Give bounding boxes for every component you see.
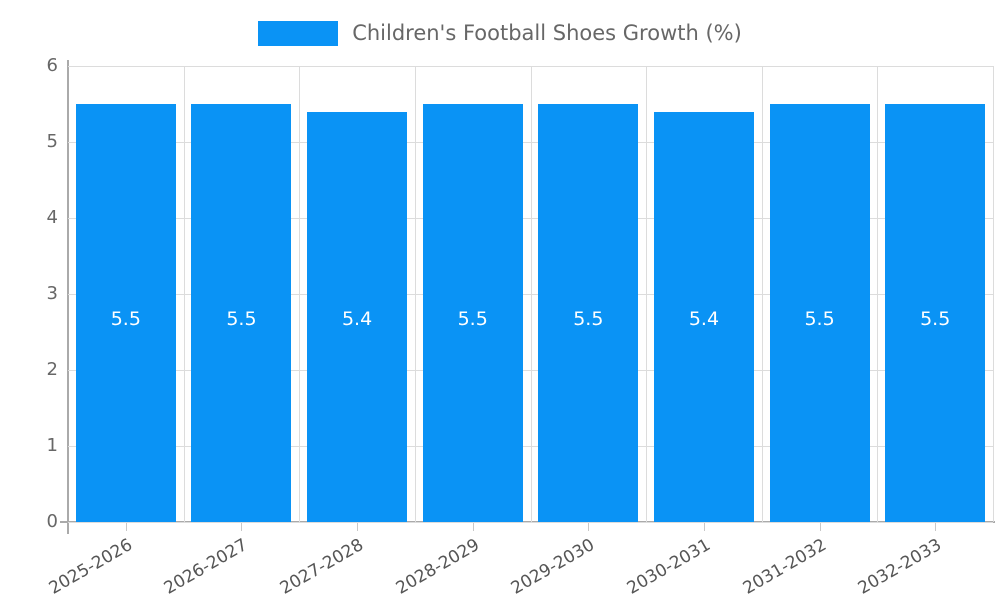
bar-group: 5.5 xyxy=(415,66,531,522)
bar-group: 5.4 xyxy=(299,66,415,522)
y-axis-tick-label: 3 xyxy=(6,285,58,303)
legend-item-label: Children's Football Shoes Growth (%) xyxy=(352,23,742,44)
plot-area: 5.55.55.45.55.55.45.55.5 xyxy=(68,66,993,522)
bar-group: 5.5 xyxy=(531,66,647,522)
x-axis-tick-label: 2027-2028 xyxy=(260,535,367,608)
bar-value-label: 5.5 xyxy=(111,310,141,329)
x-axis-tick-label: 2029-2030 xyxy=(491,535,598,608)
x-axis-tick-mark xyxy=(126,523,127,531)
x-axis-tick-label: 2031-2032 xyxy=(723,535,830,608)
y-axis-tick-label: 5 xyxy=(6,133,58,151)
x-axis-tick-labels: 2025-20262026-20272027-20282028-20292029… xyxy=(68,523,993,600)
x-axis-tick-label: 2028-2029 xyxy=(376,535,483,608)
bar-group: 5.5 xyxy=(184,66,300,522)
x-axis-tick-label: 2030-2031 xyxy=(607,535,714,608)
x-axis-tick-mark xyxy=(473,523,474,531)
bar-value-label: 5.5 xyxy=(226,310,256,329)
x-axis-tick-mark xyxy=(820,523,821,531)
gridline-vertical xyxy=(993,66,994,522)
x-axis-tick-mark xyxy=(357,523,358,531)
bar-value-label: 5.5 xyxy=(804,310,834,329)
x-axis-tick-mark xyxy=(704,523,705,531)
legend-item-children-football-shoes-growth[interactable]: Children's Football Shoes Growth (%) xyxy=(258,21,742,46)
bar-group: 5.4 xyxy=(646,66,762,522)
bar-chart: Children's Football Shoes Growth (%) 012… xyxy=(0,0,1000,600)
x-axis-tick-mark xyxy=(241,523,242,531)
bar-group: 5.5 xyxy=(68,66,184,522)
legend-color-swatch xyxy=(258,21,338,46)
y-axis-tick-label: 1 xyxy=(6,437,58,455)
x-axis-tick-label: 2032-2033 xyxy=(838,535,945,608)
bar-value-label: 5.5 xyxy=(920,310,950,329)
x-axis-tick-mark xyxy=(588,523,589,531)
x-axis-tick-label: 2025-2026 xyxy=(29,535,136,608)
bar-value-label: 5.5 xyxy=(458,310,488,329)
bar-group: 5.5 xyxy=(762,66,878,522)
y-axis-tick-label: 6 xyxy=(6,57,58,75)
x-axis-tick-label: 2026-2027 xyxy=(144,535,251,608)
bar-value-label: 5.4 xyxy=(342,310,372,329)
bar-group: 5.5 xyxy=(877,66,993,522)
bar-series: 5.55.55.45.55.55.45.55.5 xyxy=(68,66,993,522)
chart-legend: Children's Football Shoes Growth (%) xyxy=(0,14,1000,52)
y-axis-tick-label: 0 xyxy=(6,513,58,531)
y-axis-tick-label: 4 xyxy=(6,209,58,227)
bar-value-label: 5.5 xyxy=(573,310,603,329)
y-axis-tick-label: 2 xyxy=(6,361,58,379)
bar-value-label: 5.4 xyxy=(689,310,719,329)
x-axis-tick-mark xyxy=(935,523,936,531)
